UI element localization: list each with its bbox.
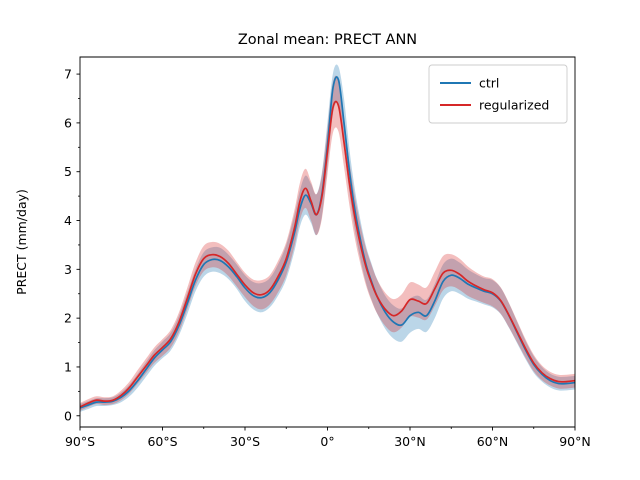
zonal-mean-chart: 90°S60°S30°S0°30°N60°N90°N 01234567 Zona… bbox=[0, 0, 640, 480]
y-tick-label: 1 bbox=[64, 359, 72, 374]
figure-canvas: 90°S60°S30°S0°30°N60°N90°N 01234567 Zona… bbox=[0, 0, 640, 480]
x-tick-label: 90°N bbox=[559, 434, 591, 449]
y-tick-label: 5 bbox=[64, 164, 72, 179]
y-tick-label: 2 bbox=[64, 311, 72, 326]
y-tick-label: 3 bbox=[64, 262, 72, 277]
y-tick-label: 4 bbox=[64, 213, 72, 228]
y-tick-label: 7 bbox=[64, 67, 72, 82]
legend-label-ctrl: ctrl bbox=[479, 76, 499, 91]
x-tick-label: 60°S bbox=[147, 434, 177, 449]
legend-box bbox=[429, 65, 567, 123]
chart-title: Zonal mean: PRECT ANN bbox=[238, 32, 417, 48]
x-tick-label: 60°N bbox=[477, 434, 509, 449]
x-tick-label: 30°S bbox=[230, 434, 260, 449]
y-axis-label: PRECT (mm/day) bbox=[14, 189, 29, 295]
x-tick-label: 0° bbox=[320, 434, 334, 449]
y-tick-label: 0 bbox=[64, 408, 72, 423]
x-tick-label: 90°S bbox=[65, 434, 95, 449]
x-tick-label: 30°N bbox=[394, 434, 426, 449]
y-tick-label: 6 bbox=[64, 115, 72, 130]
chart-legend[interactable]: ctrlregularized bbox=[429, 65, 567, 123]
legend-label-regularized: regularized bbox=[479, 98, 549, 113]
